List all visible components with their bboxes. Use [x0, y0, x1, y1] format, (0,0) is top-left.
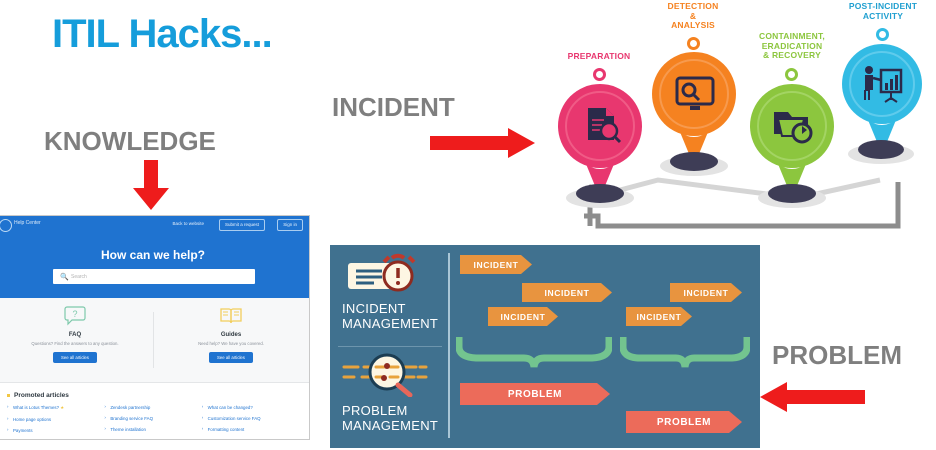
back-to-website-link[interactable]: Back to website — [172, 221, 204, 226]
incident-chip[interactable]: INCIDENT — [460, 255, 532, 274]
help-center-topbar: Help Center Back to website Submit a req… — [0, 216, 309, 234]
incident-chip[interactable]: INCIDENT — [522, 283, 612, 302]
faq-card-title: FAQ — [0, 332, 153, 338]
hero-title: How can we help? — [0, 248, 309, 262]
promoted-article-link[interactable]: Payments — [7, 428, 98, 433]
folder-restore-icon — [772, 106, 814, 144]
stage-ring-post-incident — [876, 28, 889, 41]
alarm-document-icon — [342, 253, 420, 297]
promoted-article-link[interactable]: Formatting content — [202, 427, 293, 432]
knowledge-label: KNOWLEDGE — [44, 126, 216, 157]
promoted-article-link[interactable]: Theme installation — [104, 427, 195, 432]
promoted-article-link[interactable]: Zendesk partnership — [104, 405, 195, 410]
presenter-chart-icon — [860, 64, 904, 104]
problem-management-label: PROBLEM MANAGEMENT — [342, 403, 438, 433]
page-title: ITIL Hacks... — [52, 12, 272, 57]
faq-card-subtitle: Questions? Find the answers to any quest… — [0, 341, 153, 346]
grouping-brace-icon — [456, 337, 612, 369]
stage-ring-containment — [785, 68, 798, 81]
star-icon: ★ — [59, 405, 64, 410]
question-bubble-icon: ? — [0, 306, 153, 330]
guides-card-title: Guides — [153, 332, 309, 338]
help-center-cards: ? FAQ Questions? Find the answers to any… — [0, 298, 309, 383]
red-arrow-down-icon — [132, 160, 170, 210]
faq-card[interactable]: ? FAQ Questions? Find the answers to any… — [0, 306, 153, 364]
red-arrow-left-icon — [760, 382, 865, 412]
guides-card[interactable]: Guides Need help? We have you covered. S… — [153, 306, 309, 364]
stage-ring-preparation — [593, 68, 606, 81]
incident-label: INCIDENT — [332, 92, 455, 123]
monitor-alert-icon — [674, 76, 716, 112]
stage-label-post-incident: POST-INCIDENT ACTIVITY — [830, 2, 936, 21]
faq-see-all-articles-button[interactable]: See all articles — [53, 352, 97, 363]
panel-divider — [448, 253, 450, 438]
promoted-articles-section: Promoted articles What is Lotus Themes? … — [0, 383, 309, 439]
svg-text:?: ? — [72, 309, 77, 319]
promoted-article-link[interactable]: Home page options — [7, 417, 98, 422]
promoted-bullet-icon — [7, 394, 10, 397]
itil-process-panel: INCIDENT MANAGEMENT INCIDENT INCIDENT IN… — [330, 245, 760, 448]
brand-name: Help Center — [14, 220, 41, 226]
magnifier-analysis-icon — [340, 353, 430, 397]
submit-request-button[interactable]: Submit a request — [219, 219, 265, 231]
search-placeholder: Search — [71, 274, 87, 280]
grouping-brace-icon — [620, 337, 750, 369]
problem-label: PROBLEM — [772, 340, 902, 371]
promoted-article-link[interactable]: Branding service FAQ — [104, 416, 195, 421]
sign-in-button[interactable]: Sign in — [277, 219, 303, 231]
stage-label-detection-analysis: DETECTION & ANALYSIS — [638, 2, 748, 31]
help-center-screenshot[interactable]: Help Center Back to website Submit a req… — [0, 215, 310, 440]
promoted-article-link[interactable]: What can be changed? — [202, 405, 293, 410]
search-icon: 🔍 — [60, 273, 69, 281]
promoted-articles-heading: Promoted articles — [14, 392, 299, 399]
stage-label-preparation: PREPARATION — [546, 52, 652, 62]
guides-card-subtitle: Need help? We have you covered. — [153, 341, 309, 346]
help-center-hero: Help Center Back to website Submit a req… — [0, 216, 309, 298]
search-input[interactable]: 🔍 Search — [53, 269, 255, 284]
problem-chip[interactable]: PROBLEM — [460, 383, 610, 405]
brand-logo-icon — [0, 219, 12, 232]
promoted-column: What is Lotus Themes? ★ Home page option… — [7, 405, 104, 439]
incident-chip[interactable]: INCIDENT — [488, 307, 558, 326]
promoted-column: What can be changed? Customization servi… — [202, 405, 299, 439]
incident-lifecycle-diagram: PREPARATION DETECTION & ANALYSIS — [530, 0, 936, 240]
incident-management-label: INCIDENT MANAGEMENT — [342, 301, 438, 331]
promoted-article-link[interactable]: Customization service FAQ — [202, 416, 293, 421]
panel-row-divider — [338, 346, 442, 347]
stage-ring-detection — [687, 37, 700, 50]
guides-see-all-articles-button[interactable]: See all articles — [209, 352, 253, 363]
problem-chip[interactable]: PROBLEM — [626, 411, 742, 433]
document-search-icon — [582, 106, 622, 146]
incident-chip[interactable]: INCIDENT — [670, 283, 742, 302]
open-book-icon — [153, 306, 309, 330]
incident-chip[interactable]: INCIDENT — [626, 307, 692, 326]
stage-label-containment: CONTAINMENT, ERADICATION & RECOVERY — [730, 32, 854, 61]
red-arrow-right-icon — [430, 128, 535, 158]
promoted-article-link[interactable]: What is Lotus Themes? ★ — [7, 405, 98, 411]
promoted-column: Zendesk partnership Branding service FAQ… — [104, 405, 201, 439]
